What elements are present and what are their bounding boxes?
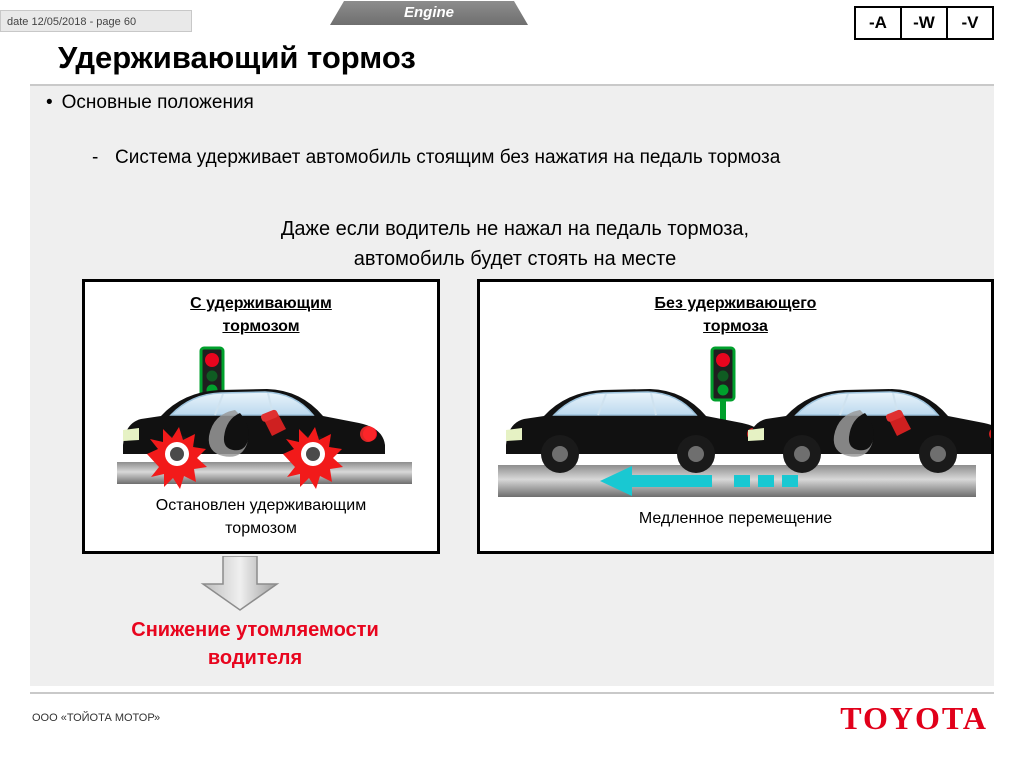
car-right-rear <box>748 389 991 473</box>
code-badge-a: -A <box>856 8 902 38</box>
dash-marker-icon: - <box>92 144 98 172</box>
page-title: Удерживающий тормоз <box>58 40 416 76</box>
conclusion-line1: Снижение утомляемости <box>60 616 450 644</box>
slide-date-label: date 12/05/2018 - page 60 <box>0 10 192 32</box>
bullet-secondary: - Система удерживает автомобиль стоящим … <box>92 144 942 172</box>
left-comparison-box: С удерживающим тормозом <box>82 279 440 554</box>
bullet-primary-text: Основные положения <box>62 92 254 113</box>
center-note-line2: автомобиль будет стоять на месте <box>110 244 920 274</box>
left-box-caption-line1: Остановлен удерживающим <box>85 494 437 517</box>
right-box-caption: Медленное перемещение <box>480 507 991 530</box>
toyota-logo: TOYOTA <box>840 700 988 737</box>
left-box-caption-line2: тормозом <box>85 517 437 540</box>
center-note-line1: Даже если водитель не нажал на педаль то… <box>110 214 920 244</box>
code-badge-w: -W <box>902 8 948 38</box>
car-right-front <box>506 389 768 473</box>
bullet-marker-icon: • <box>46 92 53 113</box>
code-badge-v: -V <box>948 8 992 38</box>
conclusion-line2: водителя <box>60 644 450 672</box>
bullet-secondary-text: Система удерживает автомобиль стоящим бе… <box>115 144 942 172</box>
section-tab-engine: Engine <box>330 1 528 25</box>
footer-divider <box>30 692 994 694</box>
conclusion-text: Снижение утомляемости водителя <box>60 616 450 672</box>
down-arrow-icon <box>197 556 283 612</box>
footer-company: ООО «ТОЙОТА МОТОР» <box>32 712 160 724</box>
center-note: Даже если водитель не нажал на педаль то… <box>110 214 920 274</box>
slide: date 12/05/2018 - page 60 Engine -A -W -… <box>0 0 1024 767</box>
bullet-primary: •Основные положения <box>46 92 254 114</box>
right-comparison-box: Без удерживающего тормоза <box>477 279 994 554</box>
code-badges: -A -W -V <box>854 6 994 40</box>
left-box-caption: Остановлен удерживающим тормозом <box>85 494 437 540</box>
